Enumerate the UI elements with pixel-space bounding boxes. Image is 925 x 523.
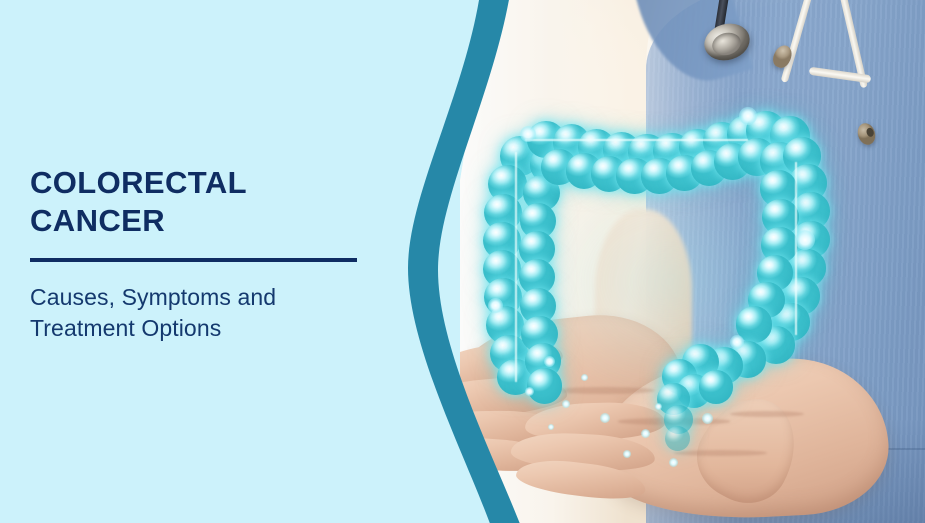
page-subtitle-line-2: Treatment Options	[30, 313, 420, 344]
page-title: COLORECTAL CANCER	[30, 164, 410, 240]
page-subtitle: Causes, Symptoms and Treatment Options	[30, 282, 420, 344]
page-title-line-2: CANCER	[30, 202, 410, 240]
glow-particle	[600, 413, 610, 423]
glow-particle	[562, 400, 570, 408]
hero-photo	[460, 0, 925, 523]
glow-particle	[641, 429, 650, 438]
glow-particles	[460, 0, 925, 523]
glow-particle	[669, 458, 678, 467]
glow-particle	[655, 403, 662, 410]
page-subtitle-line-1: Causes, Symptoms and	[30, 282, 420, 313]
glow-particle	[581, 374, 588, 381]
title-divider	[30, 258, 357, 262]
glow-particle	[525, 387, 534, 396]
glow-particle	[544, 356, 555, 367]
glow-particle	[702, 413, 713, 424]
banner: COLORECTAL CANCER Causes, Symptoms and T…	[0, 0, 925, 523]
text-panel: COLORECTAL CANCER Causes, Symptoms and T…	[0, 0, 460, 523]
page-title-line-1: COLORECTAL	[30, 164, 410, 202]
glow-particle	[623, 450, 631, 458]
glow-particle	[548, 424, 554, 430]
